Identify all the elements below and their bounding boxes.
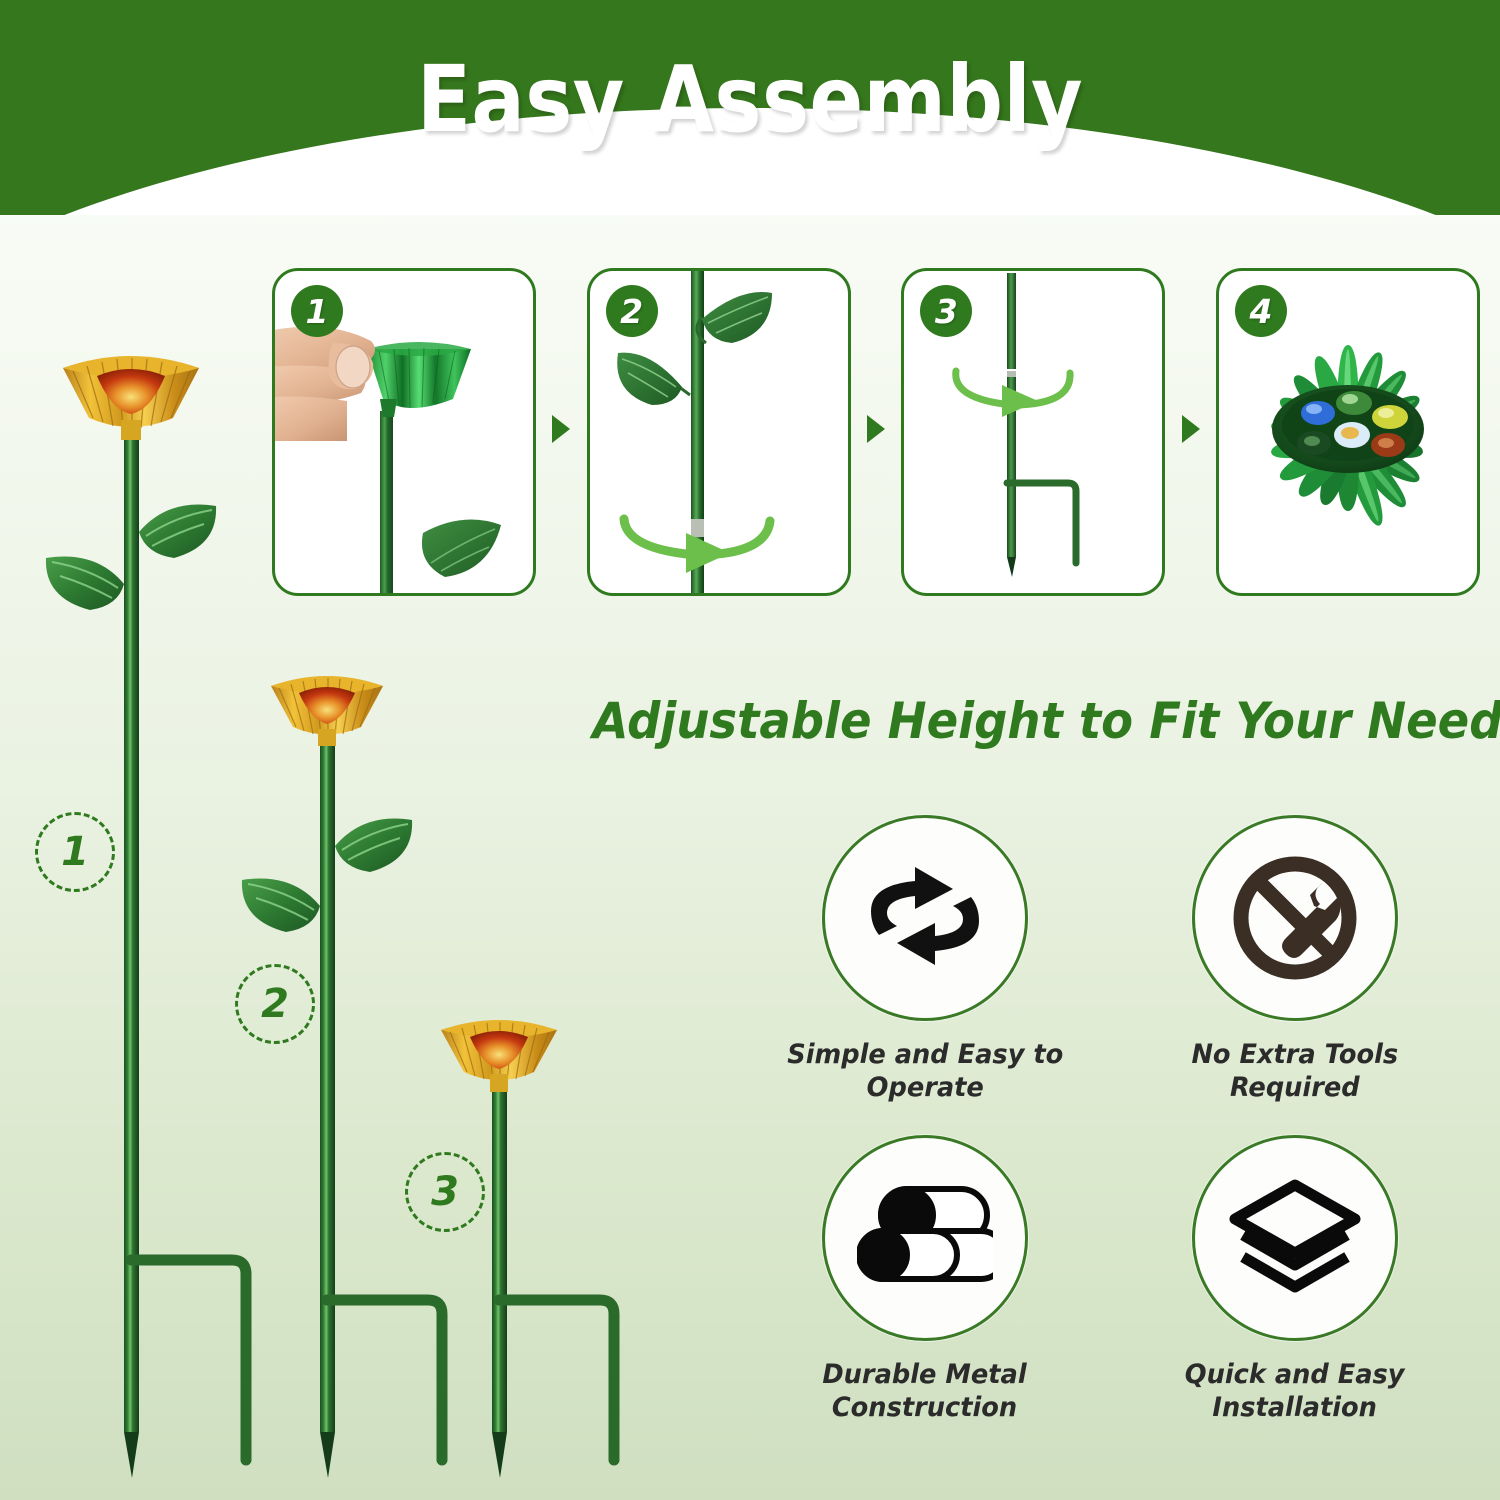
height-label-2: 2 (235, 964, 315, 1044)
stake-medium (242, 676, 442, 1478)
feature-item-no-tools: No Extra Tools Required (1110, 815, 1480, 1135)
step-connector-3 (1178, 268, 1204, 590)
height-label-3: 3 (405, 1152, 485, 1232)
chevron-right-icon (550, 415, 572, 443)
step-number-badge: 3 (920, 285, 972, 337)
step-connector-2 (863, 268, 889, 590)
metal-pipes-icon (857, 1179, 993, 1297)
stake-short (441, 1020, 614, 1478)
step-number-badge: 2 (606, 285, 658, 337)
feature-label: Quick and Easy Installation (1185, 1359, 1405, 1425)
chevron-right-icon (1180, 415, 1202, 443)
feature-label: No Extra Tools Required (1192, 1039, 1399, 1105)
no-tools-wrench-icon (1230, 853, 1360, 983)
step-panel-2: 2 (587, 268, 851, 596)
stake-tall (46, 356, 246, 1478)
step-panel-4: 4 (1216, 268, 1480, 596)
rotation-arrows-icon (857, 863, 993, 973)
step-number-badge: 1 (291, 285, 343, 337)
feature-icon-circle (1192, 1135, 1398, 1341)
feature-item-simple-operate: Simple and Easy to Operate (740, 815, 1110, 1135)
page-title: Easy Assembly (105, 46, 1395, 153)
feature-label: Simple and Easy to Operate (787, 1039, 1063, 1105)
step-panel-1: 1 (272, 268, 536, 596)
infographic-page: Easy Assembly 1 (0, 0, 1500, 1500)
step-number-badge: 4 (1235, 285, 1287, 337)
feature-item-quick-install: Quick and Easy Installation (1110, 1135, 1480, 1455)
feature-icon-circle (1192, 815, 1398, 1021)
step-panel-3: 3 (901, 268, 1165, 596)
assembly-steps: 1 (272, 268, 1480, 590)
feature-item-durable-metal: Durable Metal Construction (740, 1135, 1110, 1455)
feature-icon-circle (822, 1135, 1028, 1341)
chevron-right-icon (865, 415, 887, 443)
section-subtitle: Adjustable Height to Fit Your Needs (593, 692, 1458, 750)
feature-label: Durable Metal Construction (823, 1359, 1027, 1425)
feature-icon-circle (822, 815, 1028, 1021)
step-connector-1 (548, 268, 574, 590)
feature-grid: Simple and Easy to Operate No Extra Tool… (740, 815, 1480, 1455)
layers-stack-icon (1227, 1177, 1363, 1299)
height-label-1: 1 (35, 812, 115, 892)
